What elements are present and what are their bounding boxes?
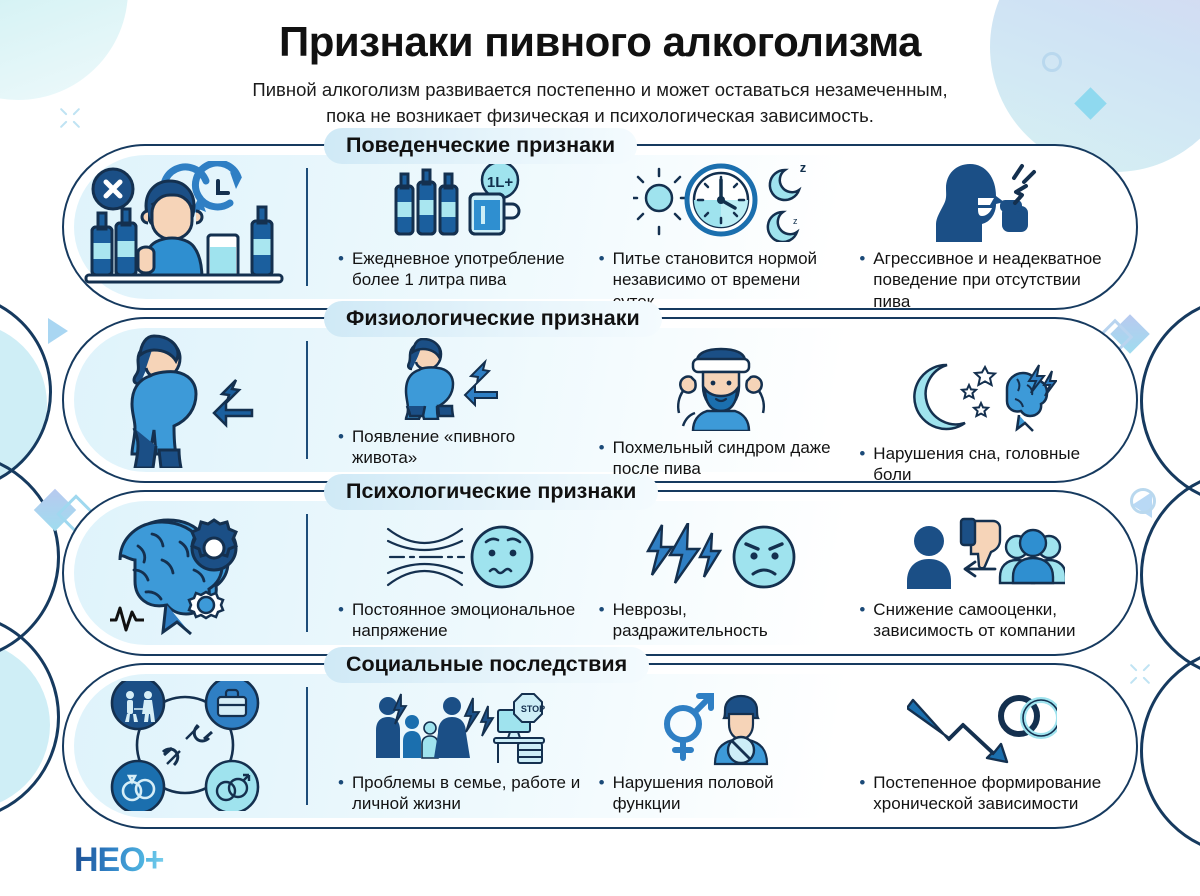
section-items: • Появление «пивного живота» (308, 317, 1138, 483)
bullet-icon: • (599, 437, 605, 480)
list-item-text: • Постепенное формирование хронической з… (859, 772, 1104, 815)
footer: НЕО+ (74, 841, 164, 880)
declining-arrow-chain-rings-icon (859, 682, 1104, 766)
svg-text:1L+: 1L+ (487, 174, 514, 191)
list-item-label: Проблемы в семье, работе и личной жизни (352, 772, 583, 815)
lightning-bolts-angry-face-icon (599, 509, 844, 593)
brand-logo: НЕО+ (74, 841, 164, 880)
list-item: • Агрессивное и неадекватное поведение п… (851, 158, 1112, 312)
section-behavioral: Поведенческие признаки (62, 144, 1138, 310)
list-item-text: • Ежедневное употребление более 1 литра … (338, 248, 583, 291)
shouting-man-with-fist-icon (859, 158, 1104, 242)
bullet-icon: • (599, 772, 605, 815)
page-subtitle: Пивной алкоголизм развивается постепенно… (90, 77, 1110, 128)
page-title: Признаки пивного алкоголизма (90, 18, 1110, 65)
list-item: 1L+ • Ежедневное употребле (330, 158, 591, 291)
svg-text:z: z (793, 216, 798, 226)
section-illustration-psychological (62, 490, 308, 656)
list-item-text: • Появление «пивного живота» (338, 426, 583, 469)
list-item: • Похмельный синдром даже после пива (591, 325, 852, 480)
list-item: • Постепенное формирование хронической з… (851, 682, 1112, 815)
sun-clock-moon-icon: z z (599, 158, 844, 242)
man-profile-with-belly-arrows-icon (338, 336, 583, 420)
list-item-text: • Нарушения половой функции (599, 772, 844, 815)
section-illustration-physiological (62, 317, 308, 483)
list-item-label: Неврозы, раздражительность (613, 599, 844, 642)
bullet-icon: • (859, 443, 865, 486)
sections-list: Поведенческие признаки (0, 144, 1200, 829)
list-item: • Нарушения половой функции (591, 682, 852, 815)
list-item-label: Появление «пивного живота» (352, 426, 583, 469)
list-item-label: Похмельный синдром даже после пива (613, 437, 844, 480)
header: Признаки пивного алкоголизма Пивной алко… (0, 0, 1200, 128)
section-physiological: Физиологические признаки (62, 317, 1138, 483)
list-item-label: Агрессивное и неадекватное поведение при… (873, 248, 1104, 312)
section-title-chip: Социальные последствия (324, 647, 649, 683)
list-item: • Неврозы, раздражительность (591, 509, 852, 642)
moon-stars-brain-lightning-icon (859, 353, 1104, 437)
bullet-icon: • (599, 599, 605, 642)
bullet-icon: • (338, 248, 344, 291)
svg-text:STOP: STOP (521, 704, 545, 714)
man-with-headache-bandage-icon (599, 347, 844, 431)
three-beer-bottles-and-1L-plus-mug-icon: 1L+ (338, 158, 583, 242)
section-title-chip: Поведенческие признаки (324, 128, 637, 164)
section-title-chip: Физиологические признаки (324, 301, 662, 337)
list-item: z z • Питье становится нормой независимо… (591, 158, 852, 312)
bullet-icon: • (859, 248, 865, 312)
bullet-icon: • (338, 599, 344, 642)
list-item-label: Постоянное эмоциональное напряжение (352, 599, 583, 642)
list-item: • Появление «пивного живота» (330, 336, 591, 469)
list-item-text: • Снижение самооценки, зависимость от ко… (859, 599, 1104, 642)
bullet-icon: • (859, 599, 865, 642)
list-item-text: • Нарушения сна, головные боли (859, 443, 1104, 486)
tension-lines-worried-face-icon (338, 509, 583, 593)
family-conflict-office-stop-icon: STOP (338, 682, 583, 766)
list-item-text: • Похмельный синдром даже после пива (599, 437, 844, 480)
list-item: • Нарушения сна, головные боли (851, 319, 1112, 486)
list-item-label: Нарушения сна, головные боли (873, 443, 1104, 486)
svg-text:z: z (800, 160, 807, 175)
gender-symbol-blocked-person-icon (599, 682, 844, 766)
list-item-text: • Неврозы, раздражительность (599, 599, 844, 642)
section-items: 1L+ • Ежедневное употребле (308, 144, 1138, 310)
list-item-label: Постепенное формирование хронической зав… (873, 772, 1104, 815)
list-item-label: Нарушения половой функции (613, 772, 844, 815)
subtitle-line-2: пока не возникает физическая и психологи… (326, 105, 874, 126)
section-social: Социальные последствия (62, 663, 1138, 829)
section-items: STOP • Проблемы в семье, работе и личной… (308, 663, 1138, 829)
thumbs-down-person-group-icon (859, 509, 1104, 593)
section-illustration-behavioral (62, 144, 308, 310)
list-item-text: • Агрессивное и неадекватное поведение п… (859, 248, 1104, 312)
list-item-label: Снижение самооценки, зависимость от комп… (873, 599, 1104, 642)
list-item-text: • Постоянное эмоциональное напряжение (338, 599, 583, 642)
subtitle-line-1: Пивной алкоголизм развивается постепенно… (252, 79, 947, 100)
section-title-chip: Психологические признаки (324, 474, 658, 510)
list-item: • Снижение самооценки, зависимость от ко… (851, 509, 1112, 642)
list-item: • Постоянное эмоциональное напряжение (330, 509, 591, 642)
list-item-text: • Проблемы в семье, работе и личной жизн… (338, 772, 583, 815)
section-items: • Постоянное эмоциональное напряжение (308, 490, 1138, 656)
bullet-icon: • (338, 426, 344, 469)
bullet-icon: • (859, 772, 865, 815)
bullet-icon: • (338, 772, 344, 815)
list-item-label: Ежедневное употребление более 1 литра пи… (352, 248, 583, 291)
section-illustration-social (62, 663, 308, 829)
section-psychological: Психологические признаки (62, 490, 1138, 656)
list-item: STOP • Проблемы в семье, работе и личной… (330, 682, 591, 815)
